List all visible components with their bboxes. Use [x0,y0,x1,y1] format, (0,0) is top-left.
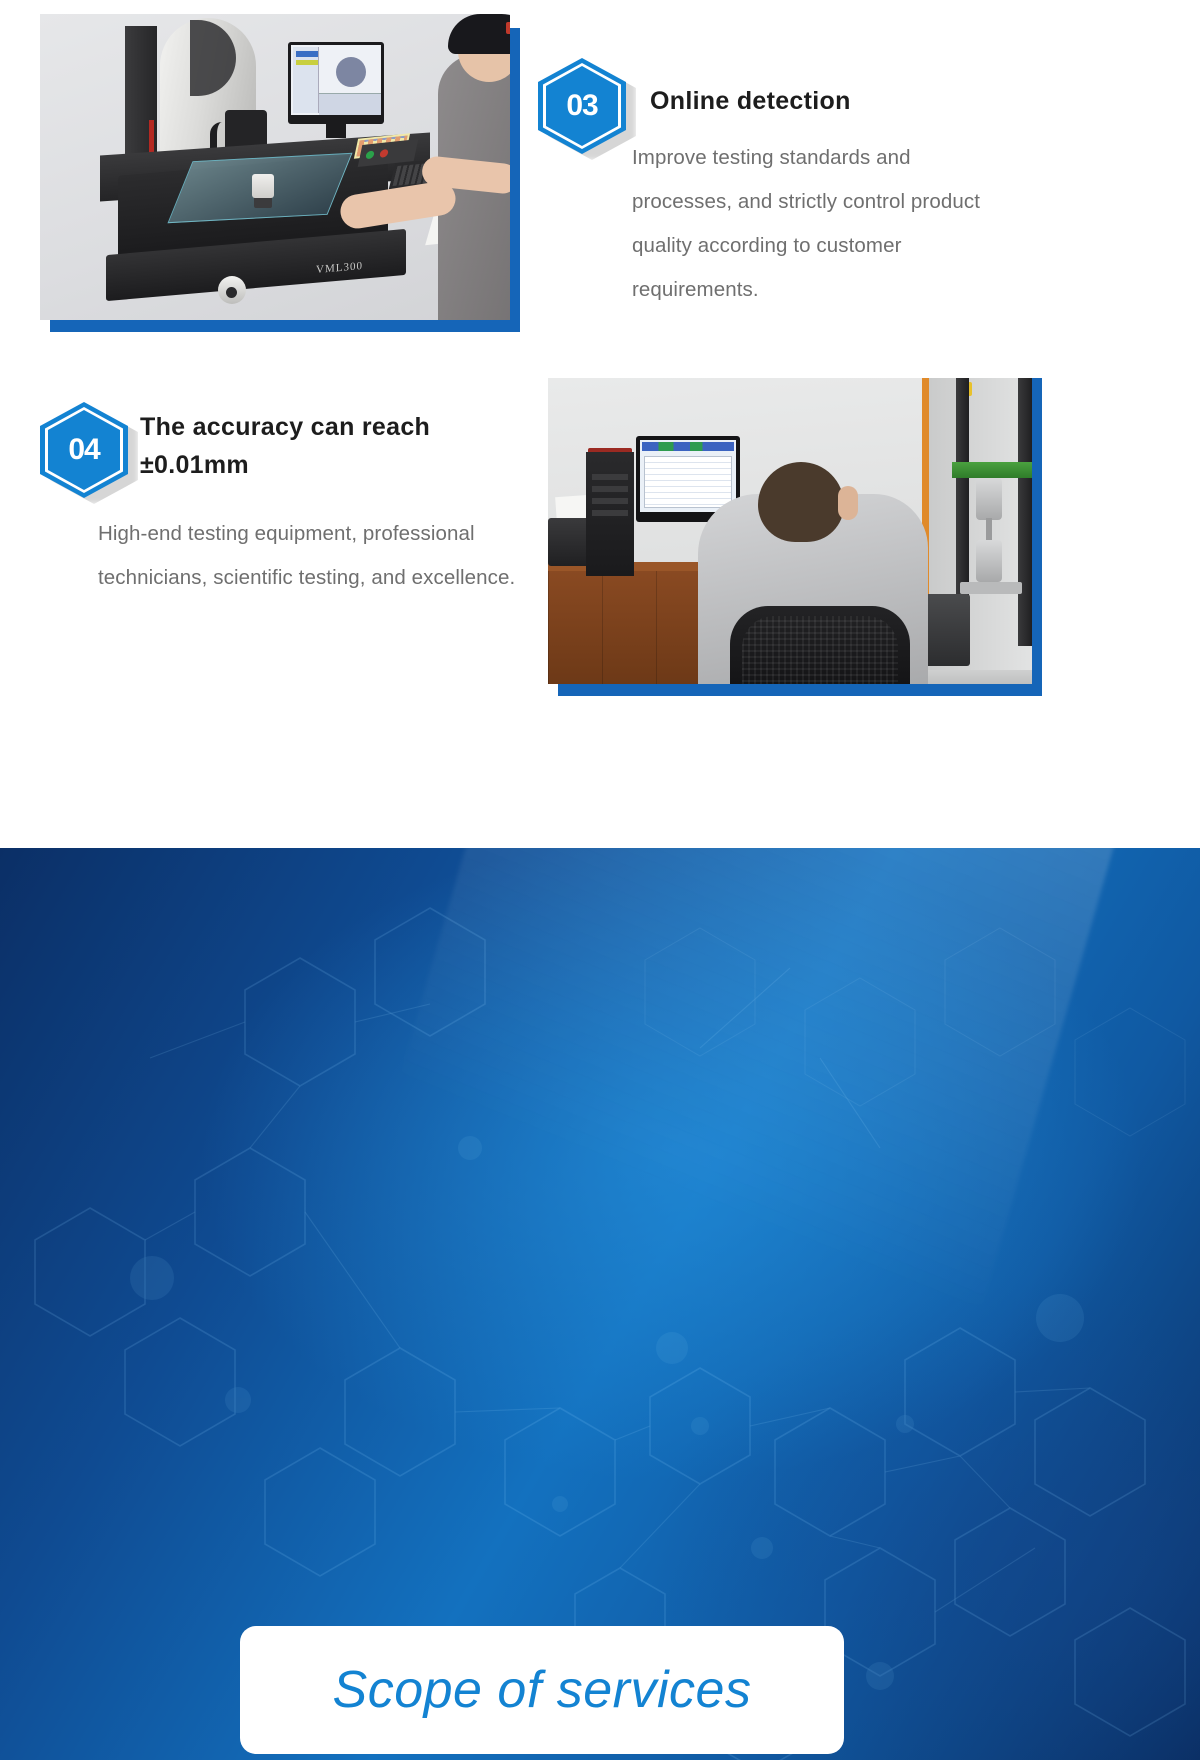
machine-column-right [1018,378,1032,646]
feature-badge-03: 03 [538,58,626,154]
software-panel [319,93,381,115]
measured-circle [336,57,366,87]
photo-vision-measuring-machine: VML300 [40,14,510,320]
technician-head [758,462,844,542]
computer-tower [586,452,634,576]
cap-logo [506,22,510,34]
frame-accent-bottom [50,320,520,332]
photo-tensile-testing-lab [548,378,1032,684]
feature-badge-04: 04 [40,402,128,498]
software-toolbar [293,47,319,113]
tower-drive-bays [592,474,628,480]
software-menu-bar [642,442,734,451]
promo-page: VML300 03 Online detection Improve testi [0,0,1200,1760]
monitor-stand [326,124,346,138]
machine-base-plate [960,582,1022,594]
features-section: VML300 03 Online detection Improve testi [0,0,1200,848]
measuring-monitor [288,42,384,124]
scope-of-services-section: Scope of services [0,848,1200,1760]
photo-frame-accuracy [548,378,1042,696]
upper-grip [976,478,1002,520]
chair-mesh [742,616,898,684]
monitor-screen [291,45,381,115]
feature-title-04: The accuracy can reach ±0.01mm [140,408,540,484]
frame-accent-bottom [558,684,1042,696]
lower-grip [976,540,1002,582]
software-data-table [644,456,732,508]
scope-title: Scope of services [333,1660,752,1720]
office-chair [730,606,910,684]
feature-title-03: Online detection [650,82,1070,120]
monitor-screen [640,440,736,512]
workpiece [252,174,274,198]
feature-body-04: High-end testing equipment, professional… [98,512,528,600]
technician-face [838,486,858,520]
feature-number: 04 [40,402,128,498]
feature-number: 03 [538,58,626,154]
stage-knob [218,276,246,304]
feature-body-03: Improve testing standards and processes,… [632,136,1012,312]
toolbar-row-2 [296,60,318,65]
scope-title-card: Scope of services [240,1626,844,1754]
machine-crosshead [952,462,1032,478]
photo-frame-online-detection: VML300 [40,14,520,332]
toolbar-row-1 [296,51,318,57]
